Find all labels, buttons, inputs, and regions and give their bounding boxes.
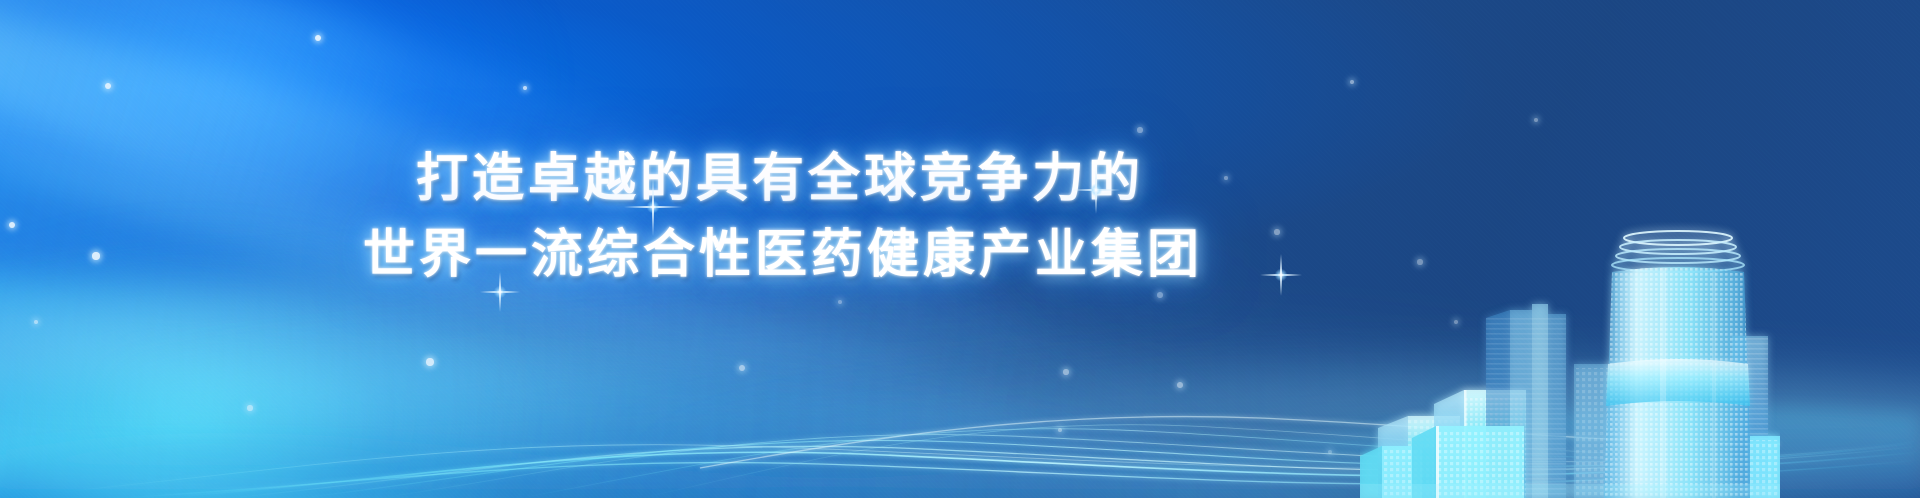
particle-dot [838, 300, 842, 304]
particle-dot [426, 358, 433, 365]
page-title: 打造卓越的具有全球竞争力的 世界一流综合性医药健康产业集团 [0, 142, 1920, 294]
particle-dot [1454, 320, 1458, 324]
particle-dot [247, 405, 252, 410]
particle-dot [739, 365, 745, 371]
flowing-wave-lines [0, 268, 1920, 498]
particle-dot [1137, 127, 1142, 132]
haze-sweep-3 [599, 359, 1920, 498]
headline-line-1: 打造卓越的具有全球竞争力的 [0, 142, 1560, 218]
particle-dot [34, 320, 39, 325]
particle-dot [1328, 450, 1333, 455]
particle-dot [1063, 369, 1068, 374]
hero-banner: 打造卓越的具有全球竞争力的 世界一流综合性医药健康产业集团 [0, 0, 1920, 498]
headline-line-2: 世界一流综合性医药健康产业集团 [0, 218, 1560, 294]
light-band-5 [0, 300, 1593, 498]
haze-sweep-2 [119, 312, 1621, 459]
particle-dot [105, 83, 112, 90]
particle-dot [315, 35, 321, 41]
particle-dot [1350, 80, 1355, 85]
particle-dot [1534, 118, 1538, 122]
particle-dot [1058, 428, 1063, 433]
particle-dot [523, 86, 527, 90]
particle-dot [1177, 382, 1183, 388]
